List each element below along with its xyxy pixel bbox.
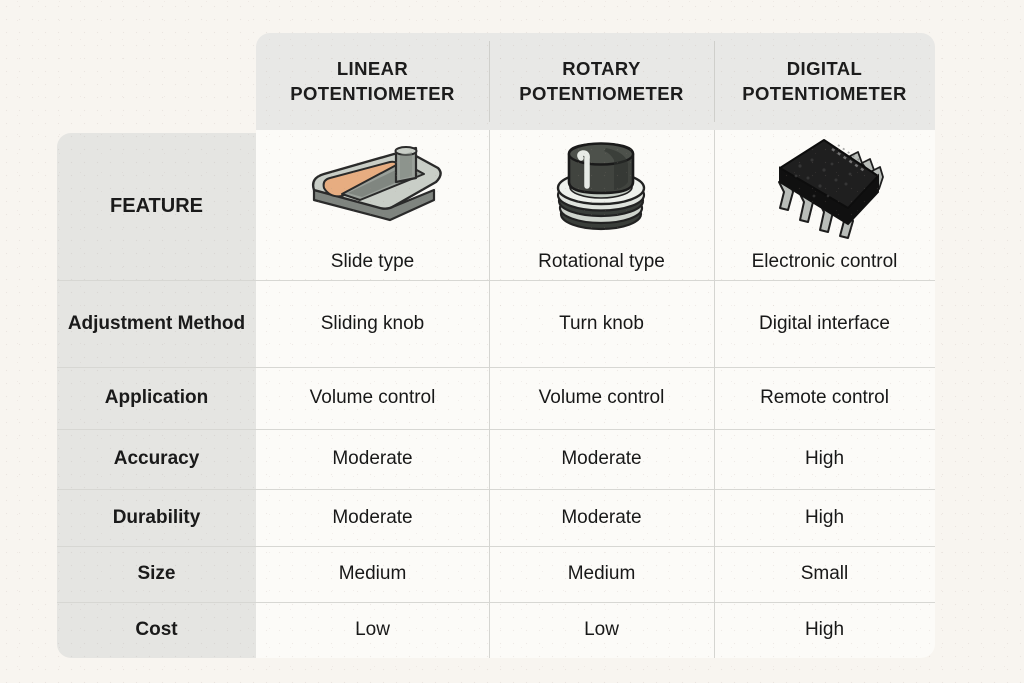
row-divider-3 (57, 429, 935, 430)
cell-r3-c3: High (714, 429, 935, 489)
cell-r1-c1: Sliding knob (256, 280, 489, 367)
row-divider-5 (57, 546, 935, 547)
row-divider-4 (57, 489, 935, 490)
row-label-cost: Cost (57, 602, 256, 658)
row-divider-6 (57, 602, 935, 603)
column-header-digital: DIGITAL POTENTIOMETER (714, 33, 935, 130)
cell-r6-c2: Low (489, 602, 714, 658)
cell-r0-c1: Slide type (256, 243, 489, 280)
column-header-rotary: ROTARY POTENTIOMETER (489, 33, 714, 130)
slide-potentiometer-illustration (256, 133, 489, 243)
row-label-application: Application (57, 367, 256, 429)
row-label-adjustment-method-text: Adjustment Method (68, 313, 245, 334)
cell-r3-c2: Moderate (489, 429, 714, 489)
cell-r5-c2: Medium (489, 546, 714, 602)
cell-r2-c1: Volume control (256, 367, 489, 429)
cell-r5-c3: Small (714, 546, 935, 602)
header-divider-1 (489, 41, 490, 122)
column-header-linear-line1: LINEAR (337, 58, 408, 79)
column-header-linear: LINEAR POTENTIOMETER (256, 33, 489, 130)
cell-r5-c1: Medium (256, 546, 489, 602)
rotary-knob-potentiometer-illustration (489, 133, 714, 243)
column-header-digital-line1: DIGITAL (787, 58, 862, 79)
cell-r1-c3: Digital interface (714, 280, 935, 367)
row-label-size: Size (57, 546, 256, 602)
row-label-accuracy: Accuracy (57, 429, 256, 489)
column-header-rotary-line1: ROTARY (562, 58, 640, 79)
row-label-adjustment-method: Adjustment Method (57, 280, 256, 367)
row-label-durability: Durability (57, 489, 256, 546)
corner-label-feature: FEATURE (57, 133, 256, 280)
cell-r4-c2: Moderate (489, 489, 714, 546)
cell-r4-c3: High (714, 489, 935, 546)
column-divider-1 (489, 130, 490, 658)
cell-r1-c2: Turn knob (489, 280, 714, 367)
cell-r2-c2: Volume control (489, 367, 714, 429)
column-header-digital-line2: POTENTIOMETER (742, 83, 907, 104)
cell-r6-c3: High (714, 602, 935, 658)
cell-r4-c1: Moderate (256, 489, 489, 546)
cell-r6-c1: Low (256, 602, 489, 658)
cell-r3-c1: Moderate (256, 429, 489, 489)
comparison-table: LINEAR POTENTIOMETER ROTARY POTENTIOMETE… (57, 33, 935, 658)
cell-r2-c3: Remote control (714, 367, 935, 429)
cell-r0-c3: Electronic control (714, 243, 935, 280)
row-divider-1 (57, 280, 935, 281)
column-divider-2 (714, 130, 715, 658)
column-header-rotary-line2: POTENTIOMETER (519, 83, 684, 104)
row-divider-2 (57, 367, 935, 368)
cell-r0-c2: Rotational type (489, 243, 714, 280)
column-header-linear-line2: POTENTIOMETER (290, 83, 455, 104)
header-divider-2 (714, 41, 715, 122)
digital-potentiometer-ic-illustration (714, 133, 935, 243)
